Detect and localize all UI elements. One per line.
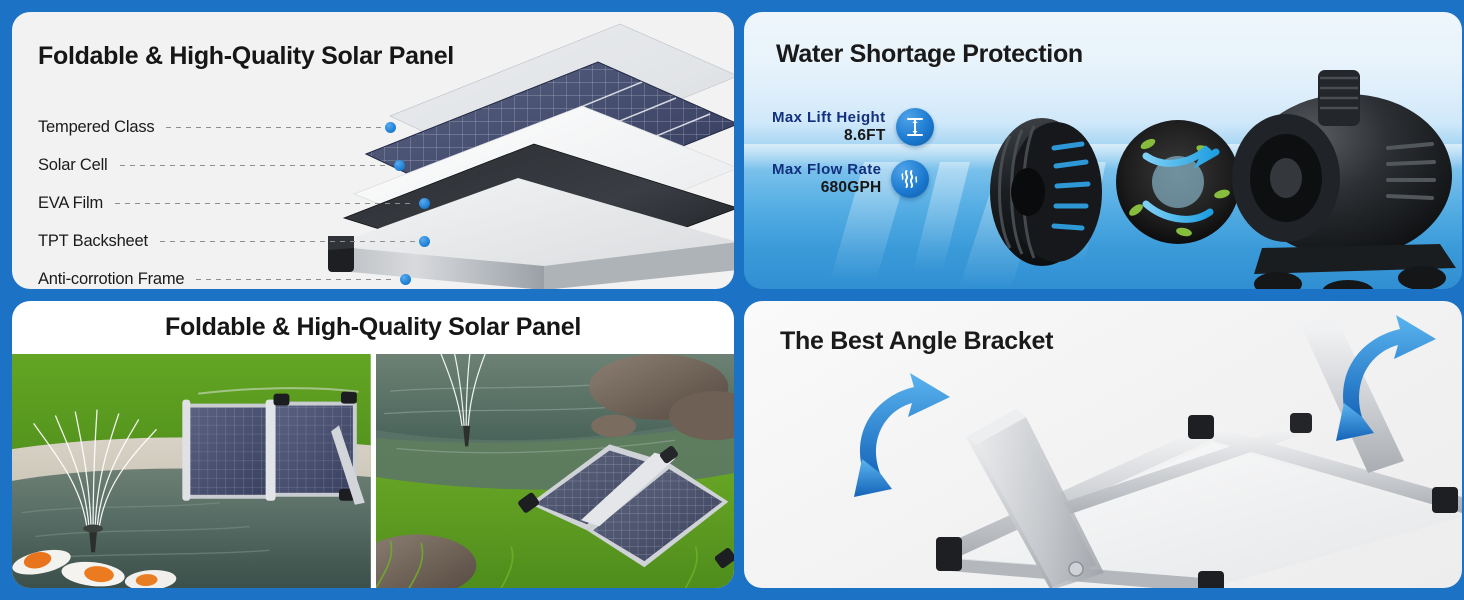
spec-row-max-flow-rate: Max Flow Rate 680GPH (772, 160, 934, 198)
layer-row-tpt-backsheet: TPT Backsheet (38, 222, 464, 260)
panel-water-shortage-protection: Water Shortage Protection Max Lift Heigh… (744, 12, 1462, 289)
layer-marker-dot (385, 122, 396, 133)
photo-stream-folded-panel (376, 354, 735, 588)
flow-rate-icon (891, 160, 929, 198)
photo-stream-folded-panel-image (376, 354, 735, 588)
leader-line (196, 279, 396, 280)
layer-label: Tempered Class (38, 118, 154, 137)
sponge-filter-ring (1116, 120, 1240, 244)
layer-label: Solar Cell (38, 156, 108, 175)
leader-line (120, 165, 390, 166)
water-pump-illustration (970, 52, 1462, 289)
panel-solar-layers: Foldable & High-Quality Solar Panel (12, 12, 734, 289)
layer-marker-dot (419, 236, 430, 247)
product-infographic: Foldable & High-Quality Solar Panel (0, 0, 1464, 600)
photo-strip (12, 354, 734, 588)
spec-text-group: Max Lift Height 8.6FT (772, 109, 886, 145)
spec-text-group: Max Flow Rate 680GPH (772, 161, 881, 197)
photo1-solar-panel (182, 388, 364, 505)
layer-marker-dot (394, 160, 405, 171)
rotation-arrow-left (854, 373, 950, 497)
pump-intake-cage (990, 118, 1102, 266)
leader-line (166, 127, 381, 128)
layer-label: Anti-corrotion Frame (38, 270, 184, 289)
rotation-arrow-right (1336, 315, 1436, 441)
layer-label-list: Tempered Class Solar Cell EVA Film TPT B… (38, 108, 468, 289)
panel-bracket-title: The Best Angle Bracket (780, 327, 1053, 356)
panel-water-title: Water Shortage Protection (776, 40, 1083, 69)
spec-value: 8.6FT (772, 127, 886, 145)
panel-angle-bracket: The Best Angle Bracket (744, 301, 1462, 588)
photo-koi-pond-fountain (12, 354, 371, 588)
layer-marker-dot (400, 274, 411, 285)
panel-product-photos: Foldable & High-Quality Solar Panel (12, 301, 734, 588)
spec-value: 680GPH (772, 179, 881, 197)
photo-koi-pond-fountain-image (12, 354, 371, 588)
spec-list: Max Lift Height 8.6FT Max Flow Rate 680G… (772, 108, 934, 212)
panel-photos-title: Foldable & High-Quality Solar Panel (12, 313, 734, 342)
leader-line (160, 241, 415, 242)
spec-row-max-lift-height: Max Lift Height 8.6FT (772, 108, 934, 146)
layer-row-eva-film: EVA Film (38, 184, 448, 222)
pump-body (1232, 70, 1456, 289)
layer-row-solar-cell: Solar Cell (38, 146, 408, 184)
layer-row-frame: Anti-corrotion Frame (38, 260, 423, 289)
layer-marker-dot (419, 198, 430, 209)
layer-label: TPT Backsheet (38, 232, 148, 251)
spec-label: Max Flow Rate (772, 161, 881, 179)
leader-line (115, 203, 415, 204)
panel-solar-layers-title: Foldable & High-Quality Solar Panel (38, 42, 454, 71)
layer-row-tempered-glass: Tempered Class (38, 108, 442, 146)
lift-height-icon (896, 108, 934, 146)
spec-label: Max Lift Height (772, 109, 886, 127)
layer-label: EVA Film (38, 194, 103, 213)
